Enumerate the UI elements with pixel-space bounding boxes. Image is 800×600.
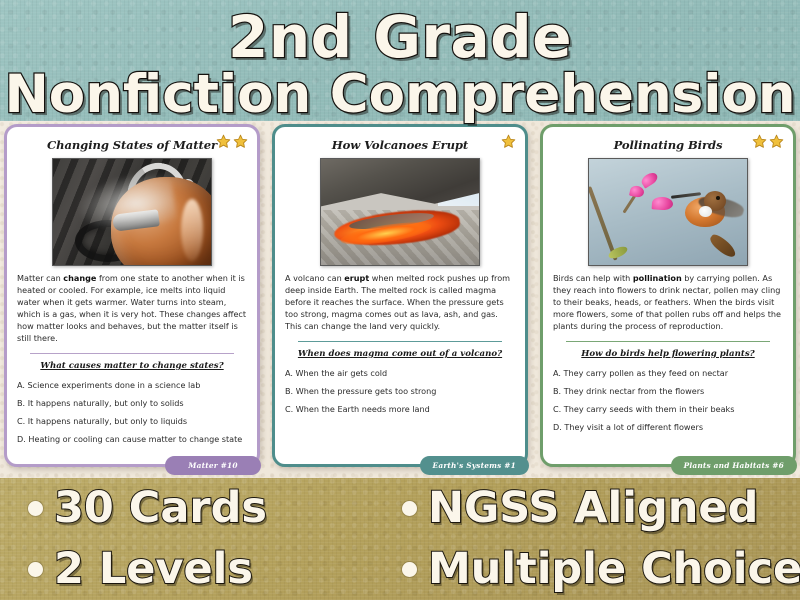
passage-keyword: pollination [633,273,682,283]
answer-choice[interactable]: D. They visit a lot of different flowers [553,423,783,433]
bullet-icon [28,562,43,577]
card-question: How do birds help flowering plants? [552,349,784,359]
answer-choice[interactable]: A. When the air gets cold [285,369,515,379]
task-card-matter[interactable]: Changing States of Matter [4,124,260,467]
feature-item-multiple-choice: Multiple Choice [390,548,800,591]
star-icon [769,134,784,149]
card-header: Pollinating Birds [552,135,784,154]
task-card-pollination[interactable]: Pollinating Birds [540,124,796,467]
feature-item-ngss: NGSS Aligned [390,487,800,530]
card-header: How Volcanoes Erupt [284,135,516,154]
page-title: 2nd Grade Nonfiction Comprehension [0,0,800,121]
difficulty-stars [216,134,248,149]
card-footer-badge: Earth's Systems #1 [420,456,530,475]
feature-label: 30 Cards [54,487,267,530]
passage-lead: A volcano can [285,273,344,283]
feature-item-levels: 2 Levels [0,548,390,591]
answer-choice[interactable]: A. Science experiments done in a science… [17,381,247,391]
product-cover: 2nd Grade Nonfiction Comprehension Chang… [0,0,800,600]
star-icon [501,134,516,149]
title-line-grade: 2nd Grade [0,0,800,66]
star-icon [752,134,767,149]
divider [30,353,234,354]
card-passage: A volcano can erupt when melted rock pus… [284,273,516,333]
feature-item-cards: 30 Cards [0,487,390,530]
bullet-icon [402,562,417,577]
divider [298,341,502,342]
answer-choice[interactable]: C. When the Earth needs more land [285,405,515,415]
card-title: How Volcanoes Erupt [332,138,468,152]
star-icon [216,134,231,149]
answer-choice[interactable]: D. Heating or cooling can cause matter t… [17,435,247,445]
card-title: Pollinating Birds [614,138,723,152]
divider [566,341,770,342]
card-title: Changing States of Matter [47,138,217,152]
passage-keyword: erupt [344,273,369,283]
feature-label: Multiple Choice [428,548,800,591]
title-line-subject: Nonfiction Comprehension [0,66,800,121]
difficulty-stars [752,134,784,149]
difficulty-stars [501,134,516,149]
passage-lead: Birds can help with [553,273,633,283]
answer-choice[interactable]: A. They carry pollen as they feed on nec… [553,369,783,379]
card-footer-badge: Matter #10 [165,456,261,475]
feature-list: 30 Cards NGSS Aligned 2 Levels Multiple … [0,478,800,600]
feature-label: 2 Levels [54,548,253,591]
star-icon [233,134,248,149]
feature-label: NGSS Aligned [428,487,758,530]
answer-choice[interactable]: B. When the pressure gets too strong [285,387,515,397]
card-passage: Birds can help with pollination by carry… [552,273,784,333]
passage-keyword: change [63,273,96,283]
card-passage: Matter can change from one state to anot… [16,273,248,345]
passage-rest: from one state to another when it is hea… [17,273,246,343]
bullet-icon [28,501,43,516]
card-row: Changing States of Matter [0,124,800,476]
answer-choice[interactable]: B. They drink nectar from the flowers [553,387,783,397]
card-question: When does magma come out of a volcano? [284,349,516,359]
passage-lead: Matter can [17,273,63,283]
card-footer-badge: Plants and Habitats #6 [671,456,797,475]
bullet-icon [402,501,417,516]
answer-choice[interactable]: C. It happens naturally, but only to liq… [17,417,247,427]
answer-choice[interactable]: B. It happens naturally, but only to sol… [17,399,247,409]
answer-choices: A. They carry pollen as they feed on nec… [552,369,784,433]
card-photo-volcano [320,158,480,266]
card-photo-hummingbird [588,158,748,266]
card-header: Changing States of Matter [16,135,248,154]
card-question: What causes matter to change states? [16,361,248,371]
answer-choices: A. When the air gets cold B. When the pr… [284,369,516,415]
answer-choices: A. Science experiments done in a science… [16,381,248,445]
answer-choice[interactable]: C. They carry seeds with them in their b… [553,405,783,415]
card-photo-kettle [52,158,212,266]
task-card-volcano[interactable]: How Volcanoes Erupt A volcano can erupt … [272,124,528,467]
